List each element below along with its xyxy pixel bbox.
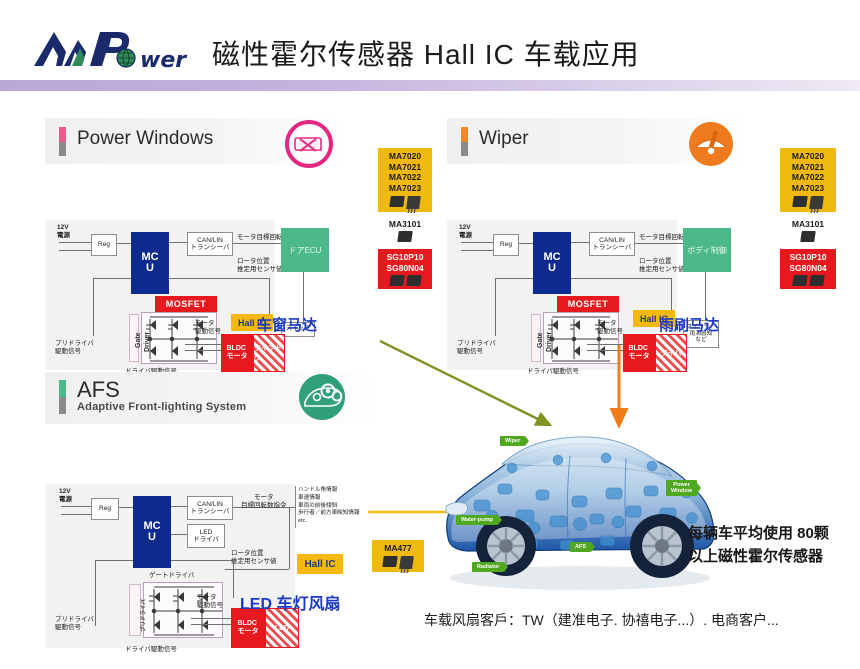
car-illustration: Wiper PowerWindow Water-pump AFS Radiato… — [430, 388, 730, 603]
car-label-radiator: Radiator — [472, 562, 504, 572]
sensor-count-note: 每辆车平均使用 80颗 以上磁性霍尔传感器 — [688, 522, 829, 569]
footer-customers-note: 车载风扇客戶：TW（建准电子. 协禧电子...）. 电商客户... — [424, 610, 779, 630]
driver-drive-label: ドライバ駆動信号 — [125, 646, 177, 654]
sensor-count-line2: 以上磁性霍尔传感器 — [688, 548, 823, 565]
sensor-count-line1: 每辆车平均使用 80颗 — [688, 525, 829, 542]
car-label-water-pump: Water-pump — [456, 515, 498, 525]
car-label-wiper: Wiper — [500, 436, 525, 446]
car-label-power-window: PowerWindow — [666, 480, 697, 496]
car-label-afs: AFS — [570, 542, 591, 552]
